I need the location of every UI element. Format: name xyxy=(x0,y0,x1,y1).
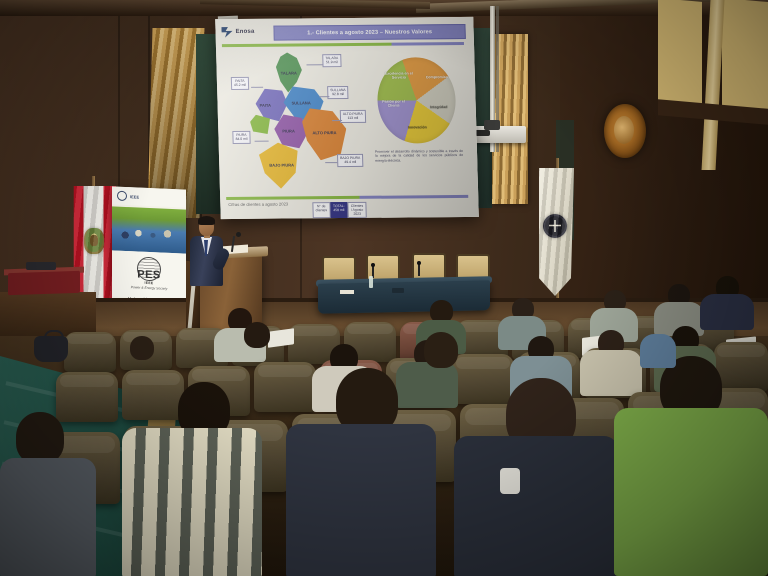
audience-head xyxy=(244,322,270,348)
province-sechura xyxy=(250,115,271,137)
enosa-logo-text: Enosa xyxy=(235,29,254,35)
map-callout-piura: PIURA 84.0 mil xyxy=(232,131,250,144)
slide: Enosa 1.- Clientes a agosto 2023 – Nuest… xyxy=(215,17,479,219)
map-label-alto-piura: ALTO PIURA xyxy=(312,130,336,135)
piura-map: TALARA PAITA SULLANA PIURA ALTO PIURA BA… xyxy=(230,50,366,195)
audience-torso xyxy=(454,436,618,576)
values-pie-chart: Compromiso Integridad Innovación Pasión … xyxy=(376,57,456,144)
legend-cell-total: TOTAL: 458 mil xyxy=(330,202,348,218)
table-laptop xyxy=(392,288,404,293)
seat xyxy=(714,342,768,392)
pie-label-excelencia: Excelencia en el Servicio xyxy=(385,71,413,79)
projector-mount xyxy=(484,120,500,130)
map-leader xyxy=(325,162,337,163)
audience-torso xyxy=(0,458,96,576)
slide-footer-divider xyxy=(226,195,468,200)
map-callout-bajo-piura: BAJO PIURA 49.4 mil xyxy=(337,154,364,167)
slide-title-bar: 1.- Clientes a agosto 2023 – Nuestros Va… xyxy=(273,24,465,41)
pie-label-pasion-cliente: Pasión por el Cliente xyxy=(381,99,407,107)
audience-head xyxy=(16,412,64,464)
slide-footnote: Cifras de clientes a agosto 2023 xyxy=(228,202,288,208)
window-pane-left xyxy=(658,0,702,114)
pie-label-integridad: Integridad xyxy=(426,105,452,109)
audience-bag xyxy=(34,336,68,362)
legend-cell-period: Clientes / Agosto 2023 xyxy=(347,202,366,218)
map-legend: N° de clientes TOTAL: 458 mil Clientes /… xyxy=(312,202,366,218)
audience-torso xyxy=(286,424,436,576)
pie-description: Promover el desarrollo dinámico y sosten… xyxy=(375,149,463,163)
map-label-piura: PIURA xyxy=(282,128,295,133)
pie-label-compromiso: Compromiso xyxy=(423,75,451,79)
audience-torso xyxy=(580,350,642,396)
face-mask xyxy=(500,468,520,494)
enosa-logo: Enosa xyxy=(221,26,265,38)
table-papers xyxy=(340,290,354,294)
audience-torso xyxy=(396,362,458,408)
legend-cell-count: N° de clientes xyxy=(312,202,330,218)
audience-torso-striped xyxy=(122,428,262,576)
auditorium-photo: Enosa 1.- Clientes a agosto 2023 – Nuest… xyxy=(0,0,768,576)
map-callout-paita: PAITA 45.2 mil xyxy=(231,77,249,90)
wall-ornament-center xyxy=(614,116,634,144)
seat xyxy=(452,354,514,404)
table-microphone xyxy=(418,264,420,276)
side-table xyxy=(8,271,80,296)
audience-head xyxy=(130,336,154,360)
map-label-sullana: SULLANA xyxy=(291,100,310,105)
seat xyxy=(254,362,316,412)
map-label-bajo-piura: BAJO PIURA xyxy=(269,162,294,167)
audience-torso-green xyxy=(614,408,768,576)
slide-divider xyxy=(222,42,464,47)
banner-logo-block: IEEE PES Power & Energy Society Universi… xyxy=(112,250,186,299)
map-leader xyxy=(251,87,263,88)
banner-photo-figures xyxy=(116,217,182,246)
seat xyxy=(56,372,118,422)
map-leader xyxy=(306,64,322,65)
map-callout-alto-piura: ALTO PIURA 113 mil xyxy=(340,110,366,123)
map-leader xyxy=(319,96,329,97)
map-label-paita: PAITA xyxy=(260,103,272,108)
seat xyxy=(64,332,116,372)
banner-header: IEEE xyxy=(112,186,186,207)
enosa-logo-icon xyxy=(221,27,232,38)
audience-shoulder xyxy=(640,334,676,368)
map-callout-talara: TALARA 51.9 mil xyxy=(322,54,341,67)
side-table-equipment xyxy=(26,262,56,270)
slide-title: 1.- Clientes a agosto 2023 – Nuestros Va… xyxy=(307,29,432,36)
water-bottle xyxy=(369,276,373,288)
map-leader xyxy=(332,120,342,121)
window-pane-right xyxy=(722,0,768,114)
projection-screen: Enosa 1.- Clientes a agosto 2023 – Nuest… xyxy=(215,17,479,219)
flag-university-folds xyxy=(536,168,574,296)
podium-microphone xyxy=(236,232,241,237)
audience-torso xyxy=(700,294,754,330)
map-label-talara: TALARA xyxy=(281,70,297,75)
banner-org-label: IEEE xyxy=(130,194,139,199)
seat xyxy=(122,370,184,420)
map-leader xyxy=(255,141,269,142)
pie-label-innovacion: Innovación xyxy=(404,125,430,129)
ieee-globe-icon xyxy=(117,191,127,201)
speaker-hair xyxy=(198,216,215,225)
map-callout-sullana: SULLANA 92.8 mil xyxy=(327,86,349,99)
panel-table xyxy=(318,280,490,314)
audience-head xyxy=(424,332,458,368)
